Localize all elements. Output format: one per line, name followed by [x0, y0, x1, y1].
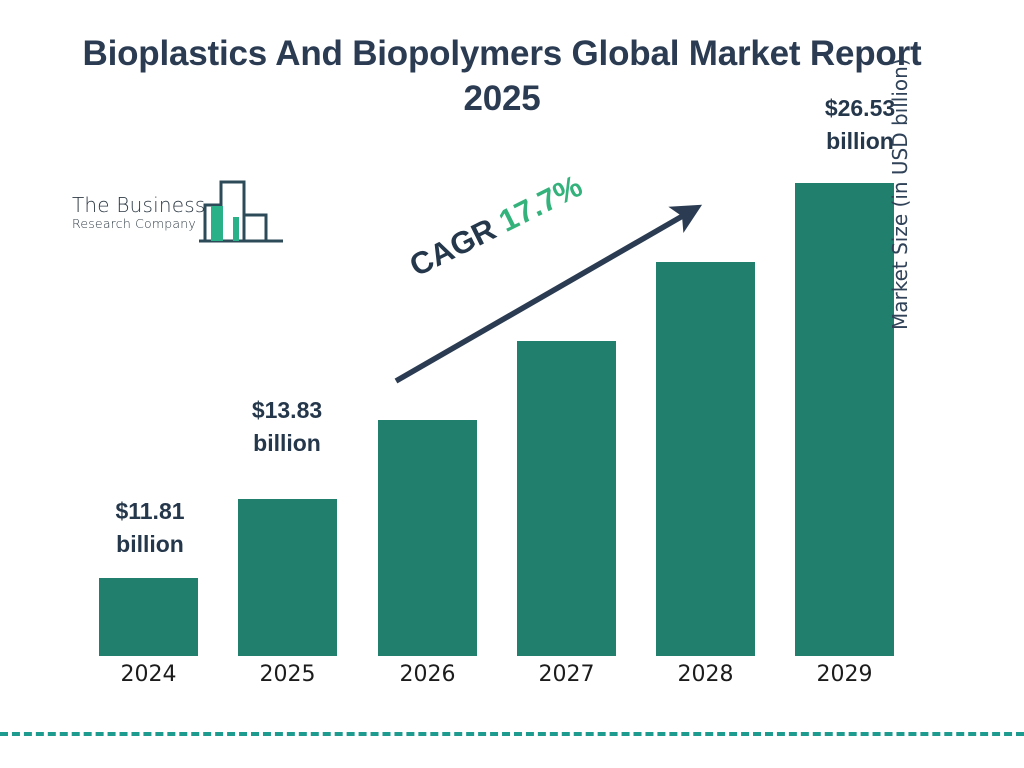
cagr-label-word: CAGR [404, 211, 501, 283]
value-callout-2025-amount: $13.83 [219, 394, 355, 427]
footer-divider [0, 732, 1024, 736]
bar-2026 [378, 420, 477, 656]
chart-page: Bioplastics And Biopolymers Global Marke… [0, 0, 1024, 768]
xtick-2025: 2025 [238, 662, 337, 687]
xtick-2028: 2028 [656, 662, 755, 687]
value-callout-2024: $11.81 billion [82, 495, 218, 560]
xtick-2024: 2024 [99, 662, 198, 687]
xtick-2027: 2027 [517, 662, 616, 687]
xtick-2029: 2029 [795, 662, 894, 687]
y-axis-title: Market Size (in USD billion) [888, 0, 912, 330]
xtick-2026: 2026 [378, 662, 477, 687]
cagr-annotation: CAGR 17.7% [404, 168, 588, 284]
cagr-label-value: 17.7% [493, 168, 587, 239]
value-callout-2025-unit: billion [219, 427, 355, 460]
bar-2027 [517, 341, 616, 656]
value-callout-2024-amount: $11.81 [82, 495, 218, 528]
bar-2024 [99, 578, 198, 656]
bar-chart-plot-area: 2024 2025 2026 2027 2028 2029 $11.81 bil… [0, 0, 1024, 768]
bar-2029 [795, 183, 894, 656]
value-callout-2024-unit: billion [82, 528, 218, 561]
bar-2028 [656, 262, 755, 656]
bar-2025 [238, 499, 337, 656]
value-callout-2025: $13.83 billion [219, 394, 355, 459]
